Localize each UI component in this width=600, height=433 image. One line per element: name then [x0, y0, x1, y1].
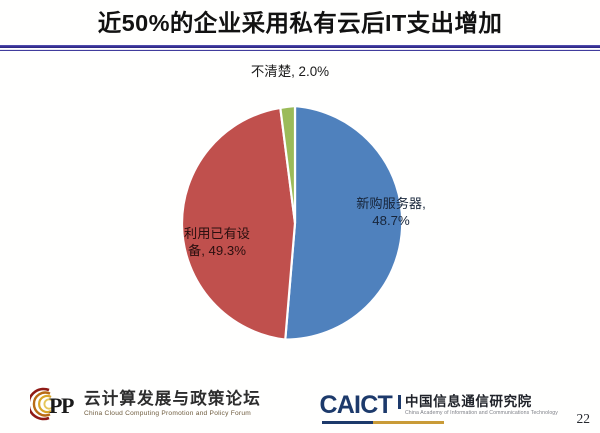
forum-logo: P P 云计算发展与政策论坛 China Cloud Computing Pro…	[30, 383, 261, 425]
caict-logo: CAICT 中国信息通信研究院 China Academy of Informa…	[320, 385, 558, 425]
pie-label-new-server-line2: 48.7%	[325, 212, 457, 229]
pie-label-new-server: 新购服务器, 48.7%	[325, 195, 457, 229]
pie-label-existing-equipment-line1: 利用已有设	[148, 225, 286, 242]
caict-logo-en: China Academy of Information and Communi…	[405, 409, 558, 417]
caict-wordmark: CAICT	[320, 392, 392, 418]
forum-logo-cn: 云计算发展与政策论坛	[84, 390, 261, 409]
caict-logo-text: 中国信息通信研究院 China Academy of Information a…	[398, 394, 558, 417]
cpp-arc-icon: P P	[30, 387, 82, 421]
pie-chart-svg	[0, 55, 600, 375]
title-divider	[0, 45, 600, 53]
pie-label-unclear-line1: 不清楚, 2.0%	[195, 63, 385, 80]
page-title: 近50%的企业采用私有云后IT支出增加	[0, 4, 600, 42]
caict-logo-cn: 中国信息通信研究院	[405, 394, 558, 409]
page-number: 22	[577, 411, 591, 427]
forum-logo-en: China Cloud Computing Promotion and Poli…	[84, 409, 261, 418]
pie-label-existing-equipment: 利用已有设 备, 49.3%	[148, 225, 286, 259]
pie-label-existing-equipment-line2: 备, 49.3%	[148, 242, 286, 259]
pie-slice-existing-equipment[interactable]	[182, 108, 295, 340]
pie-chart: 不清楚, 2.0% 新购服务器, 48.7% 利用已有设 备, 49.3%	[0, 55, 600, 375]
caict-logo-underline	[322, 421, 444, 424]
pie-label-new-server-line1: 新购服务器,	[325, 195, 457, 212]
slide-footer: P P 云计算发展与政策论坛 China Cloud Computing Pro…	[0, 377, 600, 433]
svg-text:P: P	[61, 393, 74, 418]
pie-label-unclear: 不清楚, 2.0%	[195, 63, 385, 80]
forum-logo-text: 云计算发展与政策论坛 China Cloud Computing Promoti…	[84, 390, 261, 418]
divider-bar-secondary	[0, 50, 600, 52]
